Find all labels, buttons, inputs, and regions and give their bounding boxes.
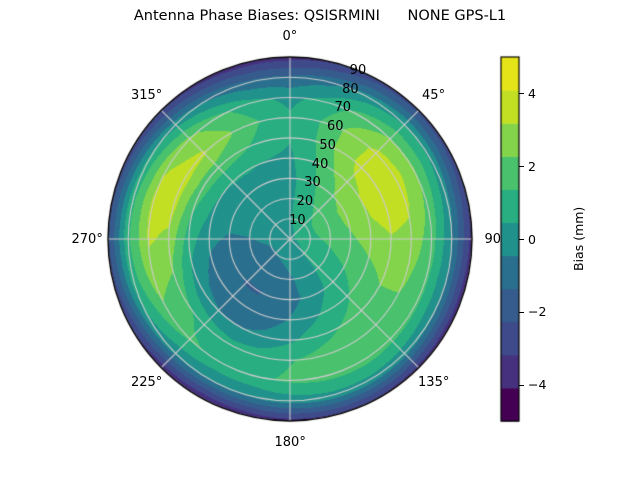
figure-canvas: Antenna Phase Biases: QSISRMINI NONE GPS… bbox=[0, 0, 640, 480]
colorbar-tick-mark bbox=[519, 239, 524, 240]
colorbar-tick-mark bbox=[519, 93, 524, 94]
colorbar-gradient bbox=[0, 0, 640, 480]
colorbar-tick-mark bbox=[519, 312, 524, 313]
colorbar-tick-mark bbox=[519, 385, 524, 386]
colorbar-tick-label: 0 bbox=[528, 232, 536, 247]
colorbar-tick-label: 2 bbox=[528, 159, 536, 174]
colorbar-axis-label: Bias (mm) bbox=[571, 207, 586, 271]
colorbar-tick-mark bbox=[519, 166, 524, 167]
colorbar-tick-label: −2 bbox=[528, 304, 546, 319]
colorbar-tick-label: −4 bbox=[528, 377, 546, 392]
colorbar-tick-label: 4 bbox=[528, 86, 536, 101]
